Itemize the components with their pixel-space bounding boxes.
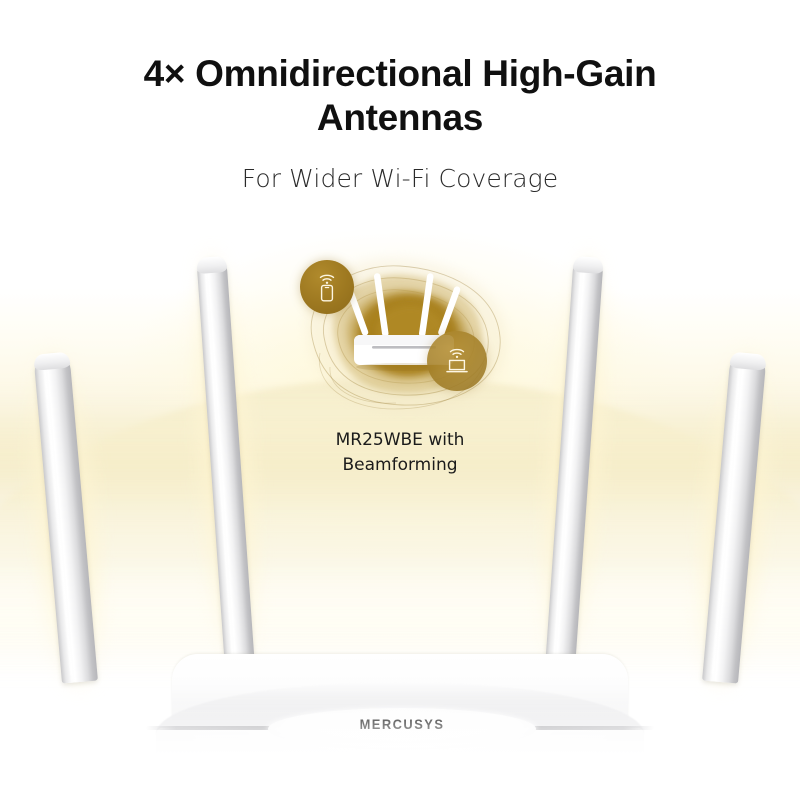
antenna-inner-right xyxy=(545,256,604,669)
diagram-caption: MR25WBE with Beamforming xyxy=(0,428,800,478)
diagram-caption-line2: Beamforming xyxy=(342,455,457,475)
antenna-tip xyxy=(196,256,227,274)
smartphone-wifi-icon xyxy=(314,271,340,303)
diagram-caption-line1: MR25WBE with xyxy=(336,430,465,450)
antenna-inner-left xyxy=(196,256,255,669)
page-subtitle: For Wider Wi-Fi Coverage xyxy=(0,140,800,194)
laptop-wifi-icon xyxy=(441,345,473,377)
background-bottom-fade xyxy=(0,700,800,800)
product-feature-banner: 4× Omnidirectional High-Gain Antennas Fo… xyxy=(0,0,800,800)
beamforming-diagram xyxy=(268,243,532,423)
antenna-tip xyxy=(729,352,766,371)
badge-laptop xyxy=(427,331,487,391)
antenna-outer-left xyxy=(33,352,98,684)
badge-phone xyxy=(300,260,354,314)
heading-block: 4× Omnidirectional High-Gain Antennas Fo… xyxy=(0,52,800,194)
antenna-outer-right xyxy=(702,352,767,684)
antenna-tip xyxy=(573,256,604,274)
page-title: 4× Omnidirectional High-Gain Antennas xyxy=(0,52,800,140)
